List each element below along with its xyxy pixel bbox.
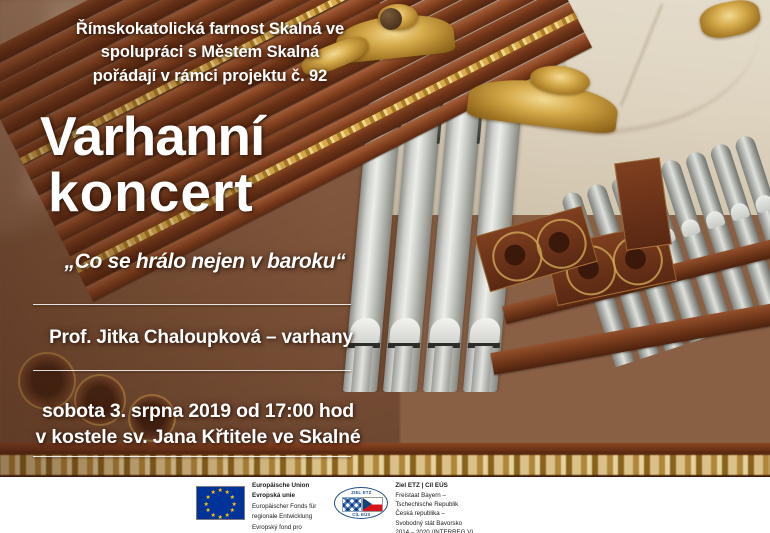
european-union-flag-icon [196, 486, 245, 520]
concert-poster: Římskokatolická farnost Skalná ve spolup… [0, 0, 770, 533]
etz-programme-text: Ziel ETZ | Cíl EÚS Freistaat Bayern – Ts… [395, 481, 473, 533]
title-line-1: Varhanní [40, 105, 264, 167]
etz-body-5: 2014 – 2020 (INTERREG V) [395, 528, 473, 533]
etz-title: Ziel ETZ | Cíl EÚS [395, 481, 473, 491]
etz-badge-bottom-label: CÍL EÚS [335, 512, 387, 517]
pipe-mouth [429, 318, 461, 344]
eu-body-de-2: regionale Entwicklung [252, 512, 316, 521]
organizer-line-1: Římskokatolická farnost Skalná ve [0, 18, 420, 41]
bavaria-flag-icon [342, 497, 362, 512]
czech-flag-icon [362, 497, 383, 512]
etz-body-1: Freistaat Bayern – [395, 491, 473, 500]
etz-badge-top-label: ZIEL ETZ [335, 490, 387, 495]
ziel-etz-badge-icon: ZIEL ETZ CÍL EÚS [334, 487, 388, 519]
etz-body-2: Tschechische Republik [395, 500, 473, 509]
event-datetime: sobota 3. srpna 2019 od 17:00 hod [18, 398, 378, 424]
divider-line [33, 304, 351, 305]
organizer-line-3: pořádají v rámci projektu č. 92 [0, 65, 420, 88]
pipe-foot [351, 346, 373, 392]
etz-body-3: Česká republika – [395, 509, 473, 518]
divider-line [33, 456, 351, 457]
organ-photo: Římskokatolická farnost Skalná ve spolup… [0, 0, 770, 477]
pipe-foot [391, 346, 413, 392]
pipe-foot [431, 346, 453, 392]
eu-title-de: Europäische Union [252, 481, 316, 491]
title-line-2: koncert [48, 164, 264, 220]
eu-body-cs-1: Evropský fond pro [252, 523, 316, 532]
eu-funding-text: Europäische Union Evropská unie Europäis… [252, 481, 316, 533]
event-details: sobota 3. srpna 2019 od 17:00 hod v kost… [18, 398, 378, 450]
etz-programme-logo: ZIEL ETZ CÍL EÚS Ziel ETZ | Cíl EÚS Frei… [334, 481, 473, 533]
etz-body-4: Svobodný stát Bavorsko [395, 519, 473, 528]
performer-name: Prof. Jitka Chaloupková – varhany [26, 327, 376, 349]
eu-title-cs: Evropská unie [252, 491, 316, 501]
funding-footer: Europäische Union Evropská unie Europäis… [0, 477, 770, 533]
organizer-heading: Římskokatolická farnost Skalná ve spolup… [0, 18, 420, 88]
poster-subtitle: „Co se hrálo nejen v baroku“ [30, 250, 380, 274]
poster-title: Varhanní koncert [40, 108, 264, 220]
divider-line [33, 370, 351, 371]
eu-funding-logo: Europäische Union Evropská unie Europäis… [196, 481, 316, 533]
organizer-line-2: spolupráci s Městem Skalná [0, 41, 420, 64]
organ-case-right [520, 150, 770, 477]
pipe-mouth [469, 318, 501, 344]
eu-body-de-1: Europäischer Fonds für [252, 502, 316, 511]
event-venue: v kostele sv. Jana Křtitele ve Skalné [18, 424, 378, 450]
